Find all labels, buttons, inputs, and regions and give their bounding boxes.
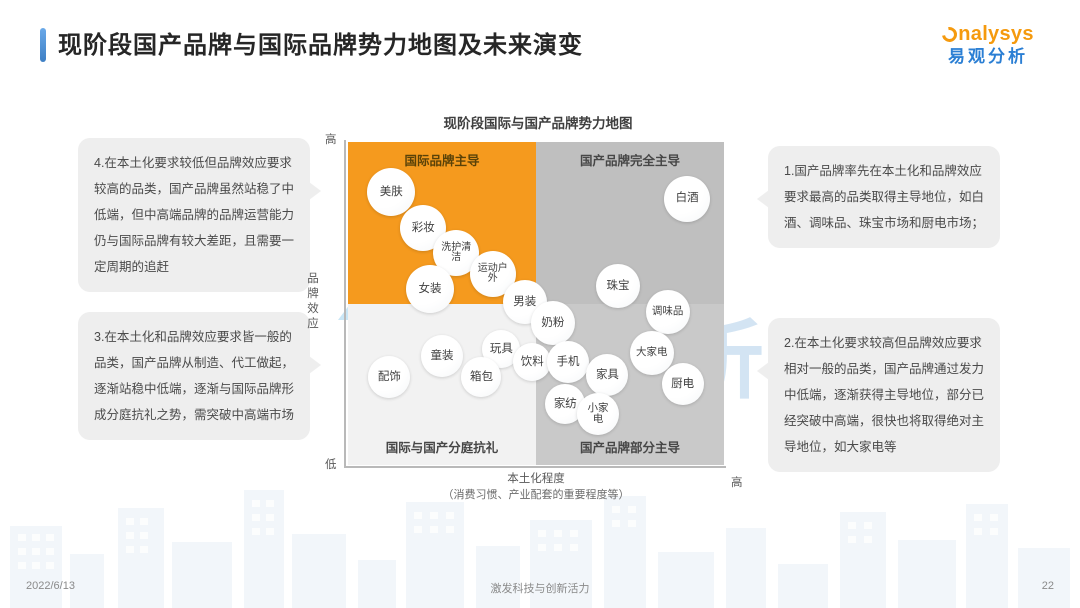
bubble-童装: 童装 — [421, 335, 463, 377]
callout-tail-3 — [309, 356, 321, 374]
bubble-白酒: 白酒 — [664, 176, 710, 222]
bubble-饮料: 饮料 — [513, 343, 551, 381]
callout-text-2: 2.在本土化要求较高但品牌效应要求相对一般的品类，国产品牌通过发力中低端，逐渐获… — [784, 336, 984, 454]
bubble-小家电: 小家电 — [577, 393, 619, 435]
bubble-label: 饮料 — [521, 356, 544, 368]
bubble-label: 彩妆 — [412, 222, 435, 234]
y-axis-label: 品牌效应 — [305, 272, 321, 332]
bubble-label: 家纺 — [554, 398, 577, 410]
bubble-label: 厨电 — [671, 378, 694, 390]
bubble-label: 珠宝 — [606, 280, 629, 292]
footer-slogan: 激发科技与创新活力 — [0, 580, 1080, 596]
footer-page-number: 22 — [1042, 580, 1054, 592]
bubble-label: 白酒 — [676, 192, 699, 204]
bubble-厨电: 厨电 — [662, 363, 704, 405]
bubble-label: 美肤 — [380, 186, 403, 198]
callout-box-1: 1.国产品牌率先在本土化和品牌效应要求最高的品类取得主导地位，如白酒、调味品、珠… — [768, 146, 1000, 248]
quadrant-label-bottom-left: 国际与国产分庭抗礼 — [348, 437, 536, 456]
bubble-奶粉: 奶粉 — [531, 301, 575, 345]
bubble-label: 手机 — [556, 356, 579, 368]
bubble-label: 箱包 — [470, 371, 493, 383]
page-footer: 2022/6/13 激发科技与创新活力 22 — [0, 566, 1080, 608]
bubble-label: 洗护清洁 — [438, 243, 474, 264]
callout-text-4: 4.在本土化要求较低但品牌效应要求较高的品类，国产品牌虽然站稳了中低端，但中高端… — [94, 156, 294, 274]
bubble-label: 童装 — [431, 350, 454, 362]
bubble-label: 调味品 — [652, 306, 684, 317]
chart-title: 现阶段国际与国产品牌势力地图 — [348, 112, 728, 132]
callout-box-3: 3.在本土化和品牌效应要求皆一般的品类，国产品牌从制造、代工做起，逐渐站稳中低端… — [78, 312, 310, 440]
bubble-女装: 女装 — [406, 265, 454, 313]
bubble-label: 家具 — [596, 369, 619, 381]
bubble-label: 女装 — [418, 283, 441, 295]
bubble-大家电: 大家电 — [630, 331, 674, 375]
bubble-label: 奶粉 — [541, 317, 564, 329]
x-axis-line — [344, 466, 726, 468]
callout-tail-1 — [757, 190, 769, 208]
title-accent-bar — [40, 28, 46, 62]
x-axis-label-sub: （消费习惯、产业配套的重要程度等） — [416, 486, 656, 502]
x-axis-label-main: 本土化程度 — [416, 470, 656, 486]
callout-tail-2 — [757, 362, 769, 380]
callout-box-2: 2.在本土化要求较高但品牌效应要求相对一般的品类，国产品牌通过发力中低端，逐渐获… — [768, 318, 1000, 472]
callout-text-1: 1.国产品牌率先在本土化和品牌效应要求最高的品类取得主导地位，如白酒、调味品、珠… — [784, 164, 984, 230]
bubble-label: 大家电 — [636, 347, 668, 358]
quadrant-label-top-right: 国产品牌完全主导 — [536, 150, 724, 169]
bubble-调味品: 调味品 — [646, 290, 690, 334]
logo-wordmark: nalysys — [922, 22, 1054, 46]
quadrant-label-top-left: 国际品牌主导 — [348, 150, 536, 169]
brand-power-map-plot: 国际品牌主导 国产品牌完全主导 国际与国产分庭抗礼 国产品牌部分主导 美肤彩妆洗… — [348, 142, 724, 465]
bubble-珠宝: 珠宝 — [596, 264, 640, 308]
logo-chinese-name: 易观分析 — [922, 46, 1054, 68]
analysys-logo: nalysys 易观分析 — [922, 22, 1054, 74]
x-axis-tick-high: 高 — [731, 474, 743, 490]
callout-box-4: 4.在本土化要求较低但品牌效应要求较高的品类，国产品牌虽然站稳了中低端，但中高端… — [78, 138, 310, 292]
quadrant-label-bottom-right: 国产品牌部分主导 — [536, 437, 724, 456]
page-header: 现阶段国产品牌与国际品牌势力地图及未来演变 nalysys 易观分析 — [0, 0, 1080, 92]
logo-wordmark-text: nalysys — [958, 23, 1034, 45]
bubble-手机: 手机 — [547, 341, 589, 383]
bubble-label: 玩具 — [490, 343, 513, 355]
callout-text-3: 3.在本土化和品牌效应要求皆一般的品类，国产品牌从制造、代工做起，逐渐站稳中低端… — [94, 330, 294, 422]
bubble-label: 配饰 — [378, 371, 401, 383]
bubble-label: 男装 — [513, 296, 536, 308]
y-axis-tick-high: 高 — [325, 131, 337, 147]
bubble-label: 小家电 — [583, 403, 613, 425]
page-title: 现阶段国产品牌与国际品牌势力地图及未来演变 — [58, 25, 583, 60]
y-axis-line — [344, 140, 346, 467]
bubble-label: 运动户外 — [475, 264, 511, 285]
x-axis-label: 本土化程度 （消费习惯、产业配套的重要程度等） — [416, 470, 656, 502]
y-axis-tick-low: 低 — [325, 456, 337, 472]
callout-tail-4 — [309, 182, 321, 200]
